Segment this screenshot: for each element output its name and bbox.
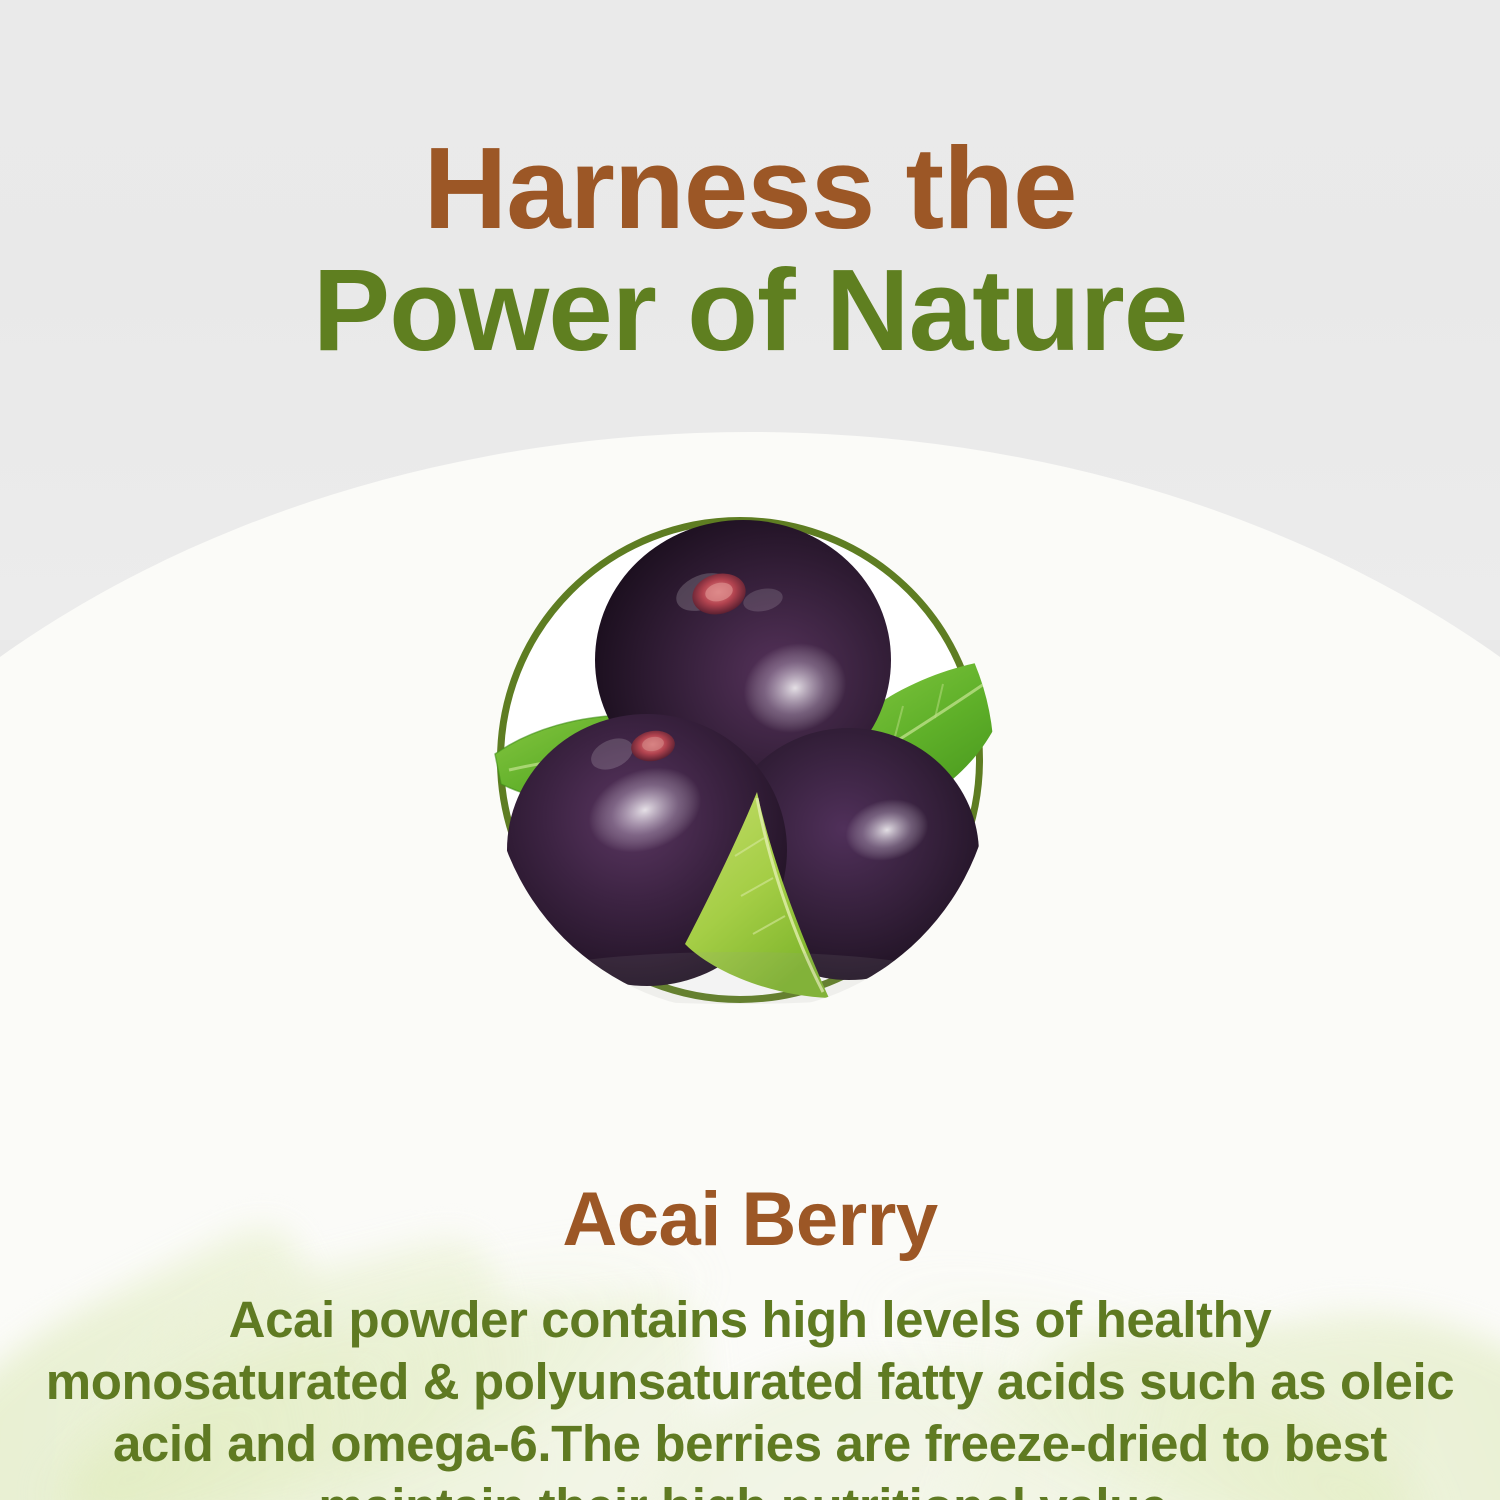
product-title: Acai Berry [0, 1176, 1500, 1263]
page-title: Harness the Power of Nature [0, 133, 1500, 366]
product-image-badge [497, 517, 983, 1003]
product-description: Acai powder contains high levels of heal… [45, 1289, 1455, 1500]
headline-line-2: Power of Nature [0, 255, 1500, 366]
promo-poster: Harness the Power of Nature [0, 0, 1500, 1500]
headline-line-1: Harness the [0, 133, 1500, 244]
acai-berry-icon [457, 492, 1027, 1032]
acai-berry-illustration [497, 517, 983, 1003]
